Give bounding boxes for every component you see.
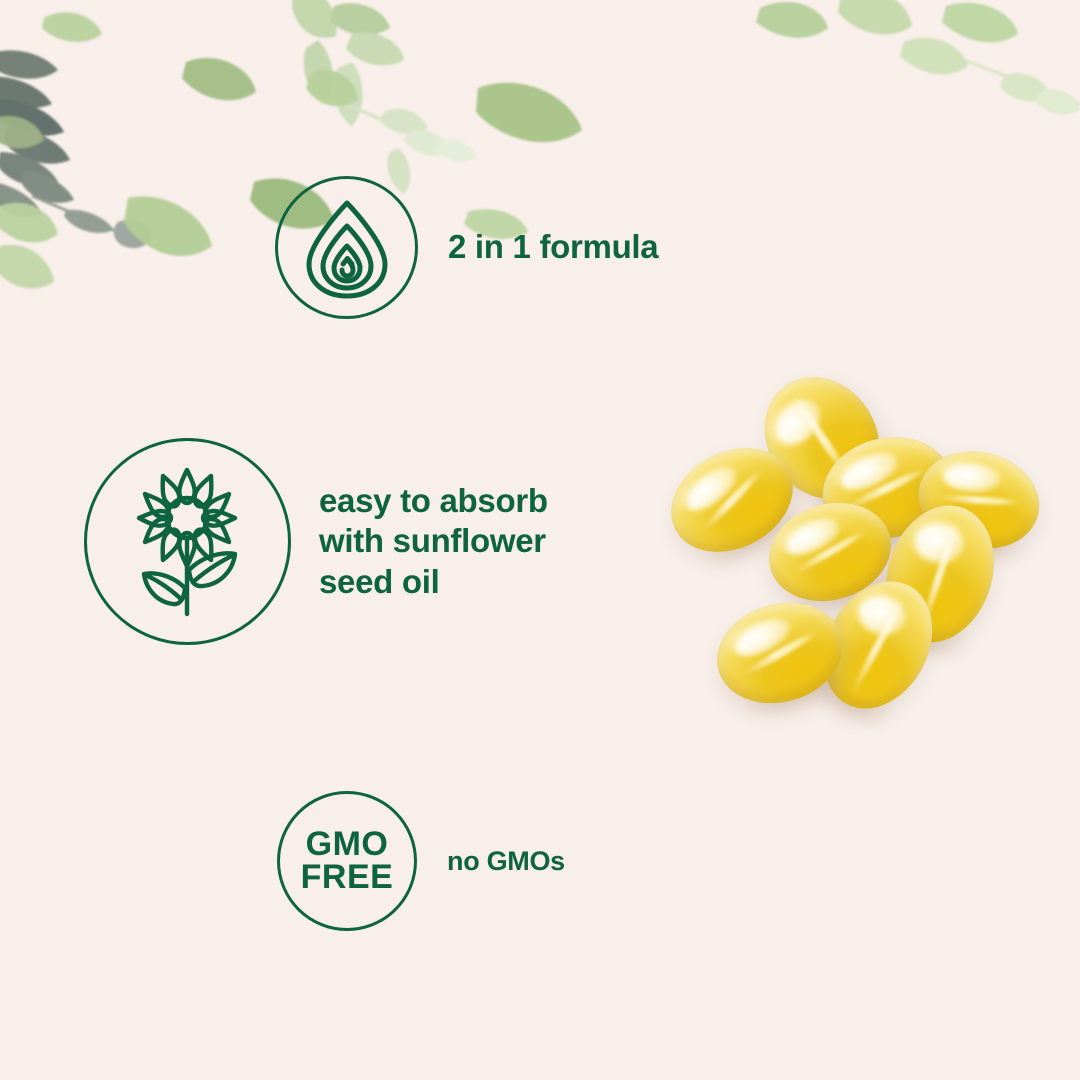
feature-label-formula: 2 in 1 formula [448, 228, 658, 267]
leaf-sprig-light-upper [292, 0, 476, 194]
feature-label-gmo: no GMOs [447, 846, 565, 877]
sunflower-badge [84, 438, 291, 645]
gmo-free-icon: GMO FREE [301, 828, 394, 895]
softgel-capsules-cluster [640, 360, 1040, 720]
gmo-free-badge: GMO FREE [277, 791, 417, 931]
leaf-sprig-dark [0, 50, 152, 248]
infographic-canvas: 2 in 1 formula [0, 0, 1080, 1080]
feature-label-absorb: easy to absorb with sunflower seed oil [319, 481, 619, 602]
gmo-badge-line-1: GMO [301, 828, 394, 861]
droplet-badge [275, 176, 418, 319]
gmo-badge-line-2: FREE [301, 861, 394, 894]
water-droplet-spiral-icon [299, 196, 395, 300]
feature-2-in-1-formula: 2 in 1 formula [275, 176, 658, 319]
feature-no-gmos: GMO FREE no GMOs [277, 791, 565, 931]
feature-easy-to-absorb: easy to absorb with sunflower seed oil [84, 438, 619, 645]
sunflower-icon [113, 462, 263, 622]
